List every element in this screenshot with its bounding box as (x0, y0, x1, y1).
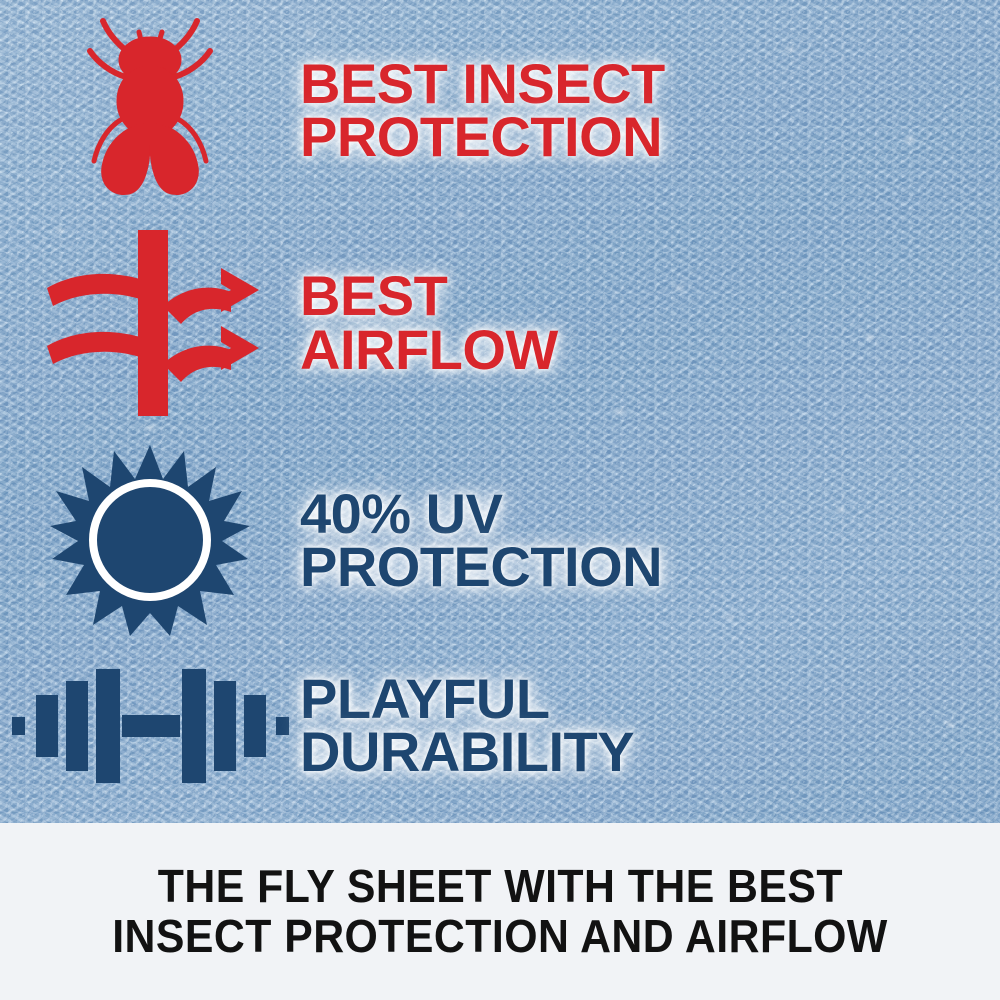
feature-row-airflow: BEST AIRFLOW (0, 225, 1000, 420)
caption-bar: THE FLY SHEET WITH THE BEST INSECT PROTE… (0, 823, 1000, 1000)
caption-line-2: INSECT PROTECTION AND AIRFLOW (112, 912, 888, 962)
airflow-icon-cell (0, 228, 300, 418)
headline-uv-protection-line1: 40% UV (300, 487, 662, 540)
product-feature-poster: BEST INSECT PROTECTION (0, 0, 1000, 1000)
headline-airflow-line1: BEST (300, 269, 558, 322)
feature-row-uv-protection: 40% UV PROTECTION (0, 440, 1000, 640)
headline-durability-line2: DURABILITY (300, 725, 634, 778)
sun-uv-icon (50, 443, 250, 638)
insect-protection-text-cell: BEST INSECT PROTECTION (300, 57, 665, 163)
headline-durability-line1: PLAYFUL (300, 672, 634, 725)
airflow-text-cell: BEST AIRFLOW (300, 269, 558, 375)
sun-uv-icon-cell (0, 443, 300, 638)
durability-text-cell: PLAYFUL DURABILITY (300, 672, 634, 778)
headline-uv-protection-line2: PROTECTION (300, 540, 662, 593)
uv-protection-text-cell: 40% UV PROTECTION (300, 487, 662, 593)
caption-line-1: THE FLY SHEET WITH THE BEST (157, 862, 842, 912)
dumbbell-icon-cell (0, 655, 300, 795)
fly-icon (70, 15, 230, 205)
headline-airflow-line2: AIRFLOW (300, 323, 558, 376)
headline-insect-protection-line1: BEST INSECT (300, 57, 665, 110)
dumbbell-icon (10, 655, 290, 795)
feature-row-insect-protection: BEST INSECT PROTECTION (0, 10, 1000, 210)
airflow-icon (35, 228, 265, 418)
headline-insect-protection-line2: PROTECTION (300, 110, 665, 163)
feature-row-durability: PLAYFUL DURABILITY (0, 650, 1000, 800)
fly-icon-cell (0, 15, 300, 205)
